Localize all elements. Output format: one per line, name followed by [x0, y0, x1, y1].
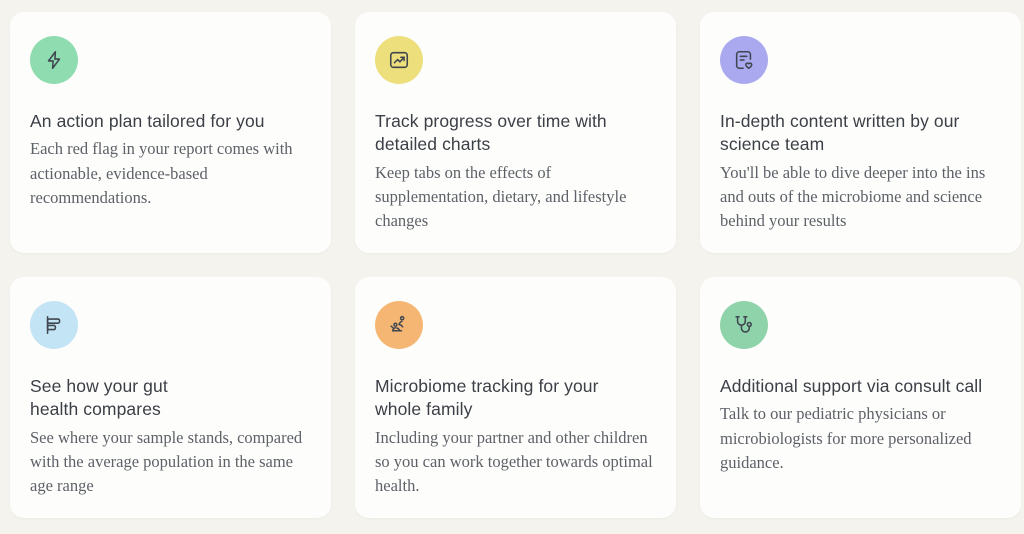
- card-title: An action plan tailored for you: [30, 110, 311, 133]
- card-title: Additional support via consult call: [720, 375, 1001, 398]
- document-heart-icon-badge: [720, 36, 768, 84]
- stethoscope-icon: [733, 314, 755, 336]
- family-icon-badge: [375, 301, 423, 349]
- document-heart-icon: [733, 49, 755, 71]
- feature-card[interactable]: An action plan tailored for you Each red…: [10, 12, 331, 253]
- card-body: Including your partner and other childre…: [375, 426, 656, 499]
- lightning-bolt-icon: [43, 49, 65, 71]
- card-title: Microbiome tracking for your whole famil…: [375, 375, 656, 422]
- card-title: Track progress over time with detailed c…: [375, 110, 656, 157]
- feature-card[interactable]: Additional support via consult call Talk…: [700, 277, 1021, 518]
- stethoscope-icon-badge: [720, 301, 768, 349]
- lightning-bolt-icon-badge: [30, 36, 78, 84]
- family-icon: [388, 314, 410, 336]
- card-body: Keep tabs on the effects of supplementat…: [375, 161, 656, 234]
- feature-card[interactable]: Microbiome tracking for your whole famil…: [355, 277, 676, 518]
- card-body: See where your sample stands, compared w…: [30, 426, 311, 499]
- feature-card[interactable]: In-depth content written by our science …: [700, 12, 1021, 253]
- card-title: In-depth content written by our science …: [720, 110, 1001, 157]
- card-title: See how your gut health compares: [30, 375, 311, 422]
- card-body: Each red flag in your report comes with …: [30, 137, 311, 210]
- chart-trend-up-icon: [388, 49, 410, 71]
- card-body: Talk to our pediatric physicians or micr…: [720, 402, 1001, 475]
- feature-card[interactable]: Track progress over time with detailed c…: [355, 12, 676, 253]
- bar-chart-icon: [43, 314, 65, 336]
- bar-chart-icon-badge: [30, 301, 78, 349]
- feature-card-grid: An action plan tailored for you Each red…: [10, 12, 1024, 518]
- card-body: You'll be able to dive deeper into the i…: [720, 161, 1001, 234]
- chart-trend-up-icon-badge: [375, 36, 423, 84]
- feature-card[interactable]: See how your gut health compares See whe…: [10, 277, 331, 518]
